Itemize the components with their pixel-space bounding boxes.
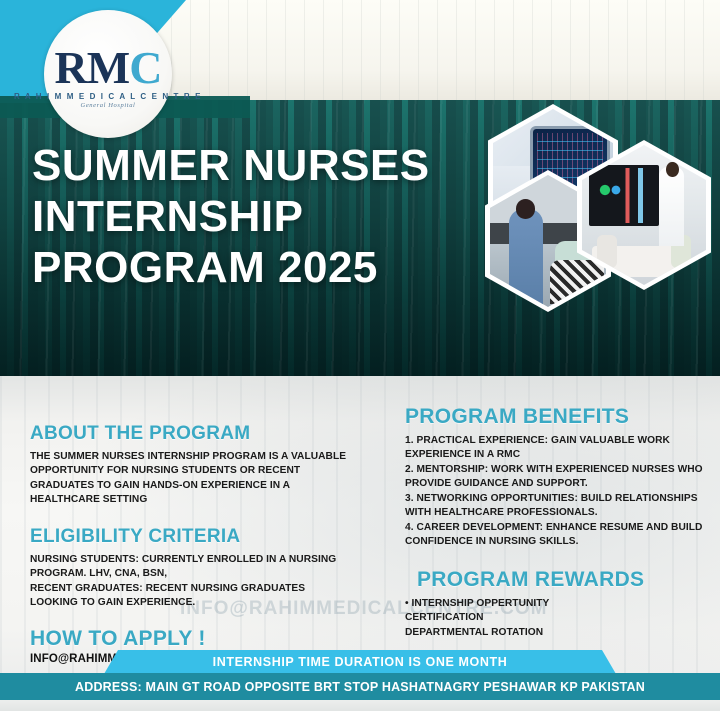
about-line-4: HEALTHCARE SETTING: [30, 493, 390, 507]
benefits-line-5: 3. NETWORKING OPPORTUNITIES: BUILD RELAT…: [405, 492, 705, 506]
rewards-line-1: • INTERNSHIP OPPERTUNITY: [405, 597, 705, 611]
rmc-logo: RMC R A H I M M E D I C A L C E N T R E …: [44, 10, 172, 138]
eligibility-line-1: NURSING STUDENTS: CURRENTLY ENROLLED IN …: [30, 553, 390, 567]
duration-banner-text: INTERNSHIP TIME DURATION IS ONE MONTH: [213, 655, 508, 669]
rewards-heading: PROGRAM REWARDS: [417, 568, 705, 592]
about-line-3: GRADUATES TO GAIN HANDS-ON EXPERIENCE IN…: [30, 479, 390, 493]
hex-photo-doctor-inner: [582, 145, 706, 285]
hero-section: RMC R A H I M M E D I C A L C E N T R E …: [0, 0, 720, 385]
rewards-line-2: CERTIFICATION: [405, 611, 705, 625]
poster-title-line-1: SUMMER NURSES: [32, 140, 472, 191]
photo-nurse-body-shape: [509, 209, 544, 307]
right-column: PROGRAM BENEFITS 1. PRACTICAL EXPERIENCE…: [405, 405, 705, 640]
photo-nurse-head-shape: [516, 199, 536, 219]
logo-letter-c: C: [129, 42, 161, 93]
logo-full-name: R A H I M M E D I C A L C E N T R E: [14, 92, 202, 101]
address-banner: ADDRESS: MAIN GT ROAD OPPOSITE BRT STOP …: [0, 673, 720, 700]
about-body: THE SUMMER NURSES INTERNSHIP PROGRAM IS …: [30, 450, 390, 508]
logo-initials: RMC: [55, 45, 162, 91]
poster-title-line-2: INTERNSHIP: [32, 191, 472, 242]
rewards-line-3: DEPARTMENTAL ROTATION: [405, 626, 705, 640]
about-line-2: OPPORTUNITY FOR NURSING STUDENTS OR RECE…: [30, 464, 390, 478]
benefits-heading: PROGRAM BENEFITS: [405, 405, 705, 429]
rewards-body: • INTERNSHIP OPPERTUNITY CERTIFICATION D…: [405, 597, 705, 640]
address-banner-text: ADDRESS: MAIN GT ROAD OPPOSITE BRT STOP …: [75, 680, 645, 694]
logo-letter-m: M: [87, 42, 129, 93]
eligibility-line-2: PROGRAM. LHV, CNA, BSN,: [30, 567, 390, 581]
poster-root: RMC R A H I M M E D I C A L C E N T R E …: [0, 0, 720, 711]
eligibility-heading: ELIGIBILITY CRITERIA: [30, 526, 390, 548]
how-to-apply-heading: HOW TO APPLY !: [30, 627, 390, 651]
logo-letter-r: R: [55, 42, 87, 93]
photo-person-left-shape: [597, 235, 617, 269]
eligibility-line-4: LOOKING TO GAIN EXPERIENCE.: [30, 596, 390, 610]
about-line-1: THE SUMMER NURSES INTERNSHIP PROGRAM IS …: [30, 450, 390, 464]
benefits-body: 1. PRACTICAL EXPERIENCE: GAIN VALUABLE W…: [405, 434, 705, 550]
poster-title: SUMMER NURSES INTERNSHIP PROGRAM 2025: [32, 140, 472, 293]
logo-tagline: General Hospital: [81, 102, 136, 109]
photo-doctor-head-shape: [666, 162, 678, 177]
benefits-line-3: 2. MENTORSHIP: WORK WITH EXPERIENCED NUR…: [405, 463, 705, 477]
eligibility-body: NURSING STUDENTS: CURRENTLY ENROLLED IN …: [30, 553, 390, 611]
benefits-line-7: 4. CAREER DEVELOPMENT: ENHANCE RESUME AN…: [405, 521, 705, 535]
bottom-fill: [0, 700, 720, 711]
photo-display-panel: [589, 165, 658, 227]
eligibility-line-3: RECENT GRADUATES: RECENT NURSING GRADUAT…: [30, 582, 390, 596]
duration-banner: INTERNSHIP TIME DURATION IS ONE MONTH: [104, 650, 616, 674]
benefits-line-6: WITH HEALTHCARE PROFESSIONALS.: [405, 506, 705, 520]
benefits-line-2: EXPERIENCE IN A RMC: [405, 448, 705, 462]
about-heading: ABOUT THE PROGRAM: [30, 423, 390, 445]
photo-doctor-body-shape: [659, 167, 684, 245]
poster-title-line-3: PROGRAM 2025: [32, 242, 472, 293]
left-column: ABOUT THE PROGRAM THE SUMMER NURSES INTE…: [30, 423, 390, 665]
benefits-line-1: 1. PRACTICAL EXPERIENCE: GAIN VALUABLE W…: [405, 434, 705, 448]
benefits-line-4: PROVIDE GUIDANCE AND SUPPORT.: [405, 477, 705, 491]
photo-doctor-briefing: [582, 145, 706, 285]
benefits-line-8: CONFIDENCE IN NURSING SKILLS.: [405, 535, 705, 549]
